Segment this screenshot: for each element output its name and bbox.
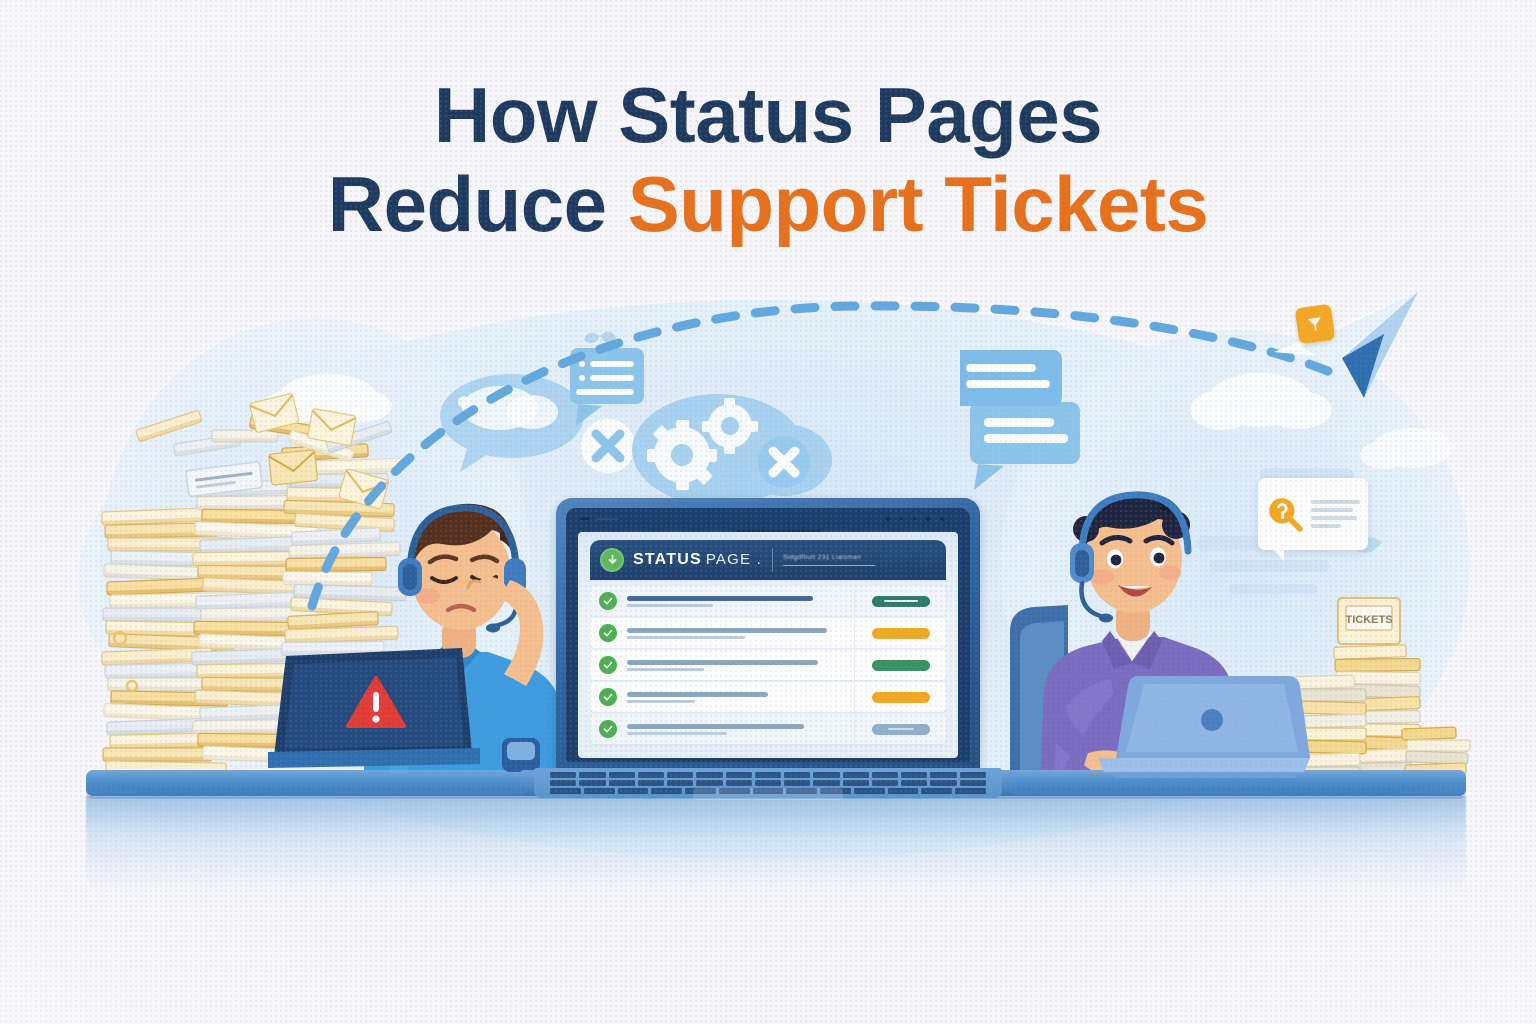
keyboard-key[interactable] — [579, 772, 605, 778]
keyboard-key[interactable] — [955, 788, 986, 794]
status-badge[interactable] — [872, 660, 930, 671]
status-row-label-placeholder — [627, 692, 854, 703]
status-badge[interactable] — [872, 628, 930, 639]
ticket-envelope — [102, 508, 206, 525]
laptop-lid: STATUS PAGE . Sidgdfliult 231 Liaisman — [556, 498, 980, 776]
keyboard-key[interactable] — [930, 780, 956, 786]
title-line-2-highlight: Support Tickets — [628, 160, 1209, 248]
help-card-lines — [1311, 500, 1360, 528]
status-row[interactable] — [590, 650, 946, 680]
status-row-badge-cell — [854, 650, 946, 680]
keyboard-key[interactable] — [550, 788, 581, 794]
keyboard-key[interactable] — [872, 780, 898, 786]
keyboard-key[interactable] — [638, 772, 664, 778]
keyboard-key[interactable] — [921, 788, 952, 794]
keyboard-key[interactable] — [901, 772, 927, 778]
svg-text:TICKETS: TICKETS — [1345, 614, 1392, 626]
keyboard-key[interactable] — [651, 788, 682, 794]
keyboard-key[interactable] — [726, 780, 752, 786]
right-laptop — [1098, 672, 1310, 782]
keyboard-row — [550, 772, 986, 778]
check-circle-icon — [599, 592, 617, 610]
keyboard-key[interactable] — [618, 788, 649, 794]
status-row[interactable] — [590, 714, 946, 744]
header-divider — [772, 548, 773, 572]
download-circle-icon — [600, 548, 624, 572]
brand-word-page: PAGE . — [706, 551, 762, 568]
keyboard-key[interactable] — [960, 772, 986, 778]
keyboard-key[interactable] — [854, 788, 885, 794]
keyboard-key[interactable] — [638, 780, 664, 786]
status-row[interactable] — [590, 618, 946, 648]
keyboard-key[interactable] — [609, 772, 635, 778]
status-badge[interactable] — [872, 724, 930, 735]
indicator-dot — [900, 517, 903, 520]
status-page-brand: STATUS PAGE . — [633, 551, 762, 569]
ticket-envelope — [1406, 751, 1468, 764]
keyboard-key[interactable] — [726, 772, 752, 778]
keyboard-key[interactable] — [667, 780, 693, 786]
ticket-envelope — [1334, 645, 1406, 659]
status-row-badge-cell — [854, 714, 946, 744]
status-page-meta-rule — [783, 565, 875, 567]
illustration-canvas: How Status Pages Reduce Support Tickets — [0, 0, 1536, 1024]
indicator-dot — [940, 517, 944, 521]
paper-plane-icon — [1272, 286, 1422, 406]
title-line-2: Reduce Support Tickets — [0, 163, 1536, 246]
status-badge[interactable] — [872, 692, 930, 703]
keyboard-key[interactable] — [667, 772, 693, 778]
status-row-badge-cell — [854, 618, 946, 648]
title-line-1: How Status Pages — [0, 74, 1536, 157]
send-badge-icon — [1295, 304, 1336, 345]
status-page-meta-text: Sidgdfliult 231 Liaisman — [783, 554, 936, 561]
indicator-dot — [926, 517, 930, 521]
title-line-2-prefix: Reduce — [328, 160, 628, 248]
keyboard-key[interactable] — [888, 788, 919, 794]
keyboard-key[interactable] — [550, 772, 576, 778]
ticket-envelope — [212, 430, 278, 442]
ticket-envelope — [103, 748, 212, 761]
keyboard-key[interactable] — [609, 780, 635, 786]
laptop-camera-bar — [566, 512, 970, 526]
keyboard-key[interactable] — [813, 772, 839, 778]
brand-word-status: STATUS — [633, 551, 702, 569]
check-circle-icon — [599, 656, 617, 674]
indicator-dot — [913, 517, 916, 520]
status-row[interactable] — [590, 586, 946, 616]
keyboard-key[interactable] — [755, 780, 781, 786]
status-row-label-placeholder — [627, 596, 854, 607]
page-title: How Status Pages Reduce Support Tickets — [0, 74, 1536, 245]
keyboard-key[interactable] — [901, 780, 927, 786]
keyboard-key[interactable] — [784, 780, 810, 786]
status-page-header: STATUS PAGE . Sidgdfliult 231 Liaisman — [590, 540, 946, 580]
status-row-label-placeholder — [627, 724, 854, 735]
keyboard-key[interactable] — [550, 780, 576, 786]
ticket-envelope — [1402, 727, 1456, 740]
ticket-envelope — [136, 410, 202, 442]
laptop-screen: STATUS PAGE . Sidgdfliult 231 Liaisman — [578, 532, 958, 758]
indicator-dot — [596, 518, 618, 520]
ticket-envelope — [1407, 740, 1470, 751]
cloud-shape-2 — [1360, 428, 1452, 469]
ticket-envelope — [107, 578, 214, 595]
keyboard-row — [550, 780, 986, 786]
check-circle-icon — [599, 720, 617, 738]
status-row[interactable] — [590, 682, 946, 712]
keyboard-key[interactable] — [784, 772, 810, 778]
keyboard-key[interactable] — [584, 788, 615, 794]
indicator-dot — [886, 517, 890, 521]
left-laptop — [268, 648, 480, 776]
ticket-envelope — [108, 678, 214, 691]
keyboard-key[interactable] — [696, 780, 722, 786]
keyboard-key[interactable] — [843, 772, 869, 778]
keyboard-key[interactable] — [755, 772, 781, 778]
desk-reflection — [86, 796, 1466, 892]
laptop-trackpad[interactable] — [693, 788, 843, 800]
status-row-label-placeholder — [627, 628, 854, 639]
status-row-badge-cell — [854, 586, 946, 616]
keyboard-key[interactable] — [960, 780, 986, 786]
tickets-box: TICKETS — [1338, 598, 1400, 644]
keyboard-key[interactable] — [872, 772, 898, 778]
ticket-envelope — [1335, 659, 1420, 672]
keyboard-key[interactable] — [696, 772, 722, 778]
keyboard-key[interactable] — [813, 780, 839, 786]
small-ticket-pile: TICKETS — [1286, 588, 1476, 778]
check-circle-icon — [599, 624, 617, 642]
status-page-laptop: STATUS PAGE . Sidgdfliult 231 Liaisman — [556, 498, 980, 798]
status-page-rows — [590, 586, 946, 746]
help-question-card — [1258, 478, 1368, 550]
status-page-meta: Sidgdfliult 231 Liaisman — [783, 554, 936, 567]
indicator-dot — [580, 517, 589, 520]
keyboard-key[interactable] — [579, 780, 605, 786]
keyboard-key[interactable] — [843, 780, 869, 786]
status-badge[interactable] — [872, 596, 930, 607]
status-row-badge-cell — [854, 682, 946, 712]
check-circle-icon — [599, 688, 617, 706]
magnifier-question-icon — [1266, 495, 1304, 533]
status-row-label-placeholder — [627, 660, 854, 671]
keyboard-key[interactable] — [930, 772, 956, 778]
